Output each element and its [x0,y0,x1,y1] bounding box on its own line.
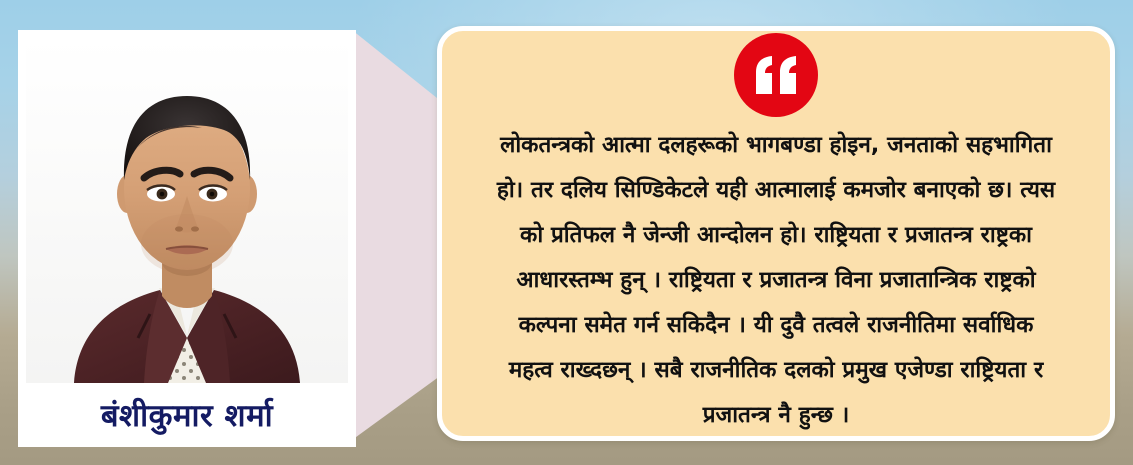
quote-line: प्रजातन्त्र नै हुन्छ । [456,393,1096,438]
portrait-photo [26,38,348,383]
person-name: बंशीकुमार शर्मा [26,383,348,447]
quote-line: कल्पना समेत गर्न सकिदैन । यी दुवै तत्वले… [456,303,1096,348]
quote-line: महत्व राख्दछन् । सबै राजनीतिक दलको प्रमु… [456,348,1096,393]
portrait-frame: बंशीकुमार शर्मा [18,30,356,447]
quote-line: हो। तर दलिय सिण्डिकेटले यही आत्मालाई कमज… [456,168,1096,213]
quote-text: लोकतन्त्रको आत्मा दलहरूको भागबण्डा होइन,… [456,123,1096,438]
double-quote-icon [734,33,818,117]
quote-line: लोकतन्त्रको आत्मा दलहरूको भागबण्डा होइन,… [456,123,1096,168]
quote-line: को प्रतिफल नै जेन्जी आन्दोलन हो। राष्ट्र… [456,213,1096,258]
portrait-illustration [26,38,348,383]
quote-card: लोकतन्त्रको आत्मा दलहरूको भागबण्डा होइन,… [437,26,1115,441]
quote-line: आधारस्तम्भ हुन् । राष्ट्रियता र प्रजातन्… [456,258,1096,303]
double-quote-glyph [753,56,799,94]
quote-card-graphic: बंशीकुमार शर्मा लोकतन्त्रको आत्मा दलहरूक… [0,0,1133,465]
